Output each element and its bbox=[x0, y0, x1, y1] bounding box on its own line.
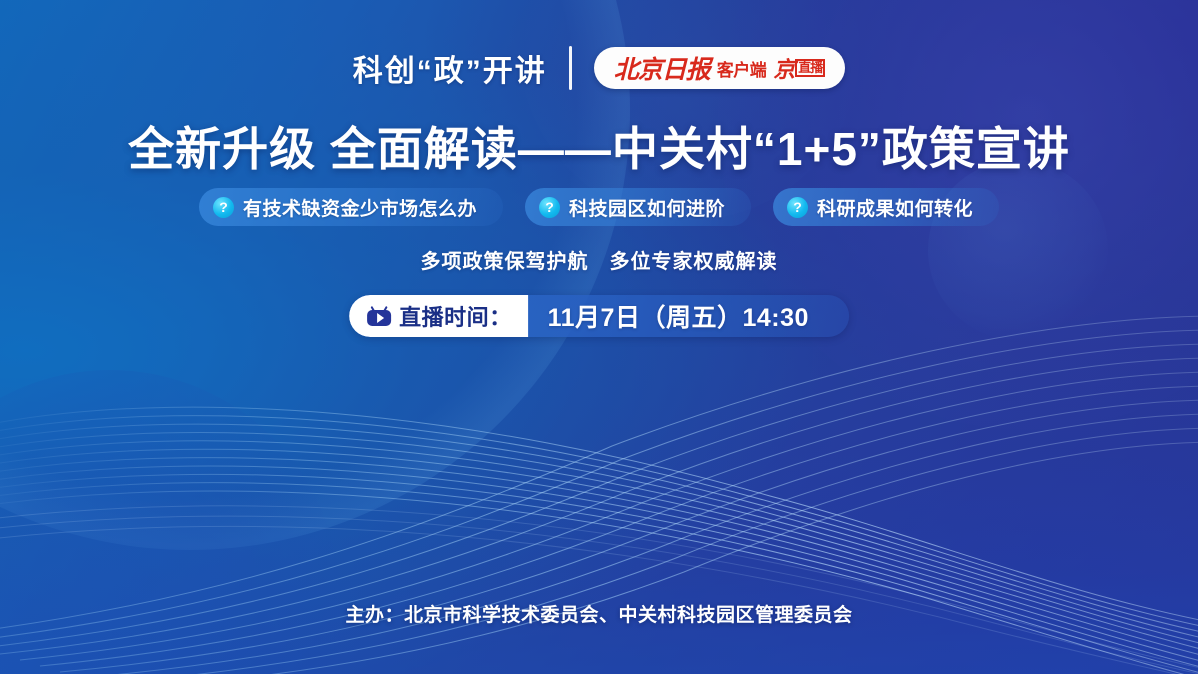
question-pill-label: 科研成果如何转化 bbox=[817, 194, 973, 221]
question-pill-label: 有技术缺资金少市场怎么办 bbox=[243, 194, 477, 221]
program-kicker: 科创“政”开讲 bbox=[353, 46, 547, 90]
header-row: 科创“政”开讲 北京日报 客户端 京直播 bbox=[0, 46, 1198, 90]
live-time-label-group: 直播时间： bbox=[349, 295, 528, 337]
live-datetime-value: 11月7日（周五）14:30 bbox=[548, 298, 809, 334]
decorative-dome-left bbox=[0, 370, 340, 674]
question-pill-2: ? 科技园区如何进阶 bbox=[525, 188, 751, 226]
beijing-daily-logo: 北京日报 客户端 京直播 bbox=[594, 47, 846, 89]
logo-live-prefix: 京 bbox=[773, 52, 794, 84]
tv-screen bbox=[367, 310, 391, 326]
page-title: 全新升级 全面解读——中关村“1+5”政策宣讲 bbox=[0, 113, 1198, 179]
decorative-mesh-waves bbox=[0, 0, 1198, 674]
organizer-credit: 主办：北京市科学技术委员会、中关村科技园区管理委员会 bbox=[0, 600, 1198, 627]
decorative-bottom-sheen bbox=[0, 444, 1198, 674]
sub-tagline: 多项政策保驾护航 多位专家权威解读 bbox=[0, 245, 1198, 274]
live-time-label: 直播时间： bbox=[399, 300, 512, 332]
logo-live-text: 京直播 bbox=[773, 52, 825, 84]
question-pill-row: ? 有技术缺资金少市场怎么办 ? 科技园区如何进阶 ? 科研成果如何转化 bbox=[0, 188, 1198, 226]
live-time-value-group: 11月7日（周五）14:30 bbox=[528, 295, 849, 337]
logo-suffix-text: 客户端 bbox=[717, 56, 767, 81]
promo-banner: 科创“政”开讲 北京日报 客户端 京直播 全新升级 全面解读——中关村“1+5”… bbox=[0, 0, 1198, 674]
question-pill-3: ? 科研成果如何转化 bbox=[773, 188, 999, 226]
question-pill-label: 科技园区如何进阶 bbox=[569, 194, 725, 221]
live-time-bar: 直播时间： 11月7日（周五）14:30 bbox=[349, 295, 849, 337]
question-mark-icon: ? bbox=[213, 197, 234, 218]
logo-live-box: 直播 bbox=[795, 59, 825, 77]
question-mark-icon: ? bbox=[539, 197, 560, 218]
decorative-circle-top bbox=[520, 0, 860, 220]
header-divider bbox=[569, 46, 572, 90]
tv-play-icon bbox=[367, 306, 391, 326]
logo-brand-text: 北京日报 bbox=[614, 50, 710, 86]
question-pill-1: ? 有技术缺资金少市场怎么办 bbox=[199, 188, 503, 226]
question-mark-icon: ? bbox=[787, 197, 808, 218]
